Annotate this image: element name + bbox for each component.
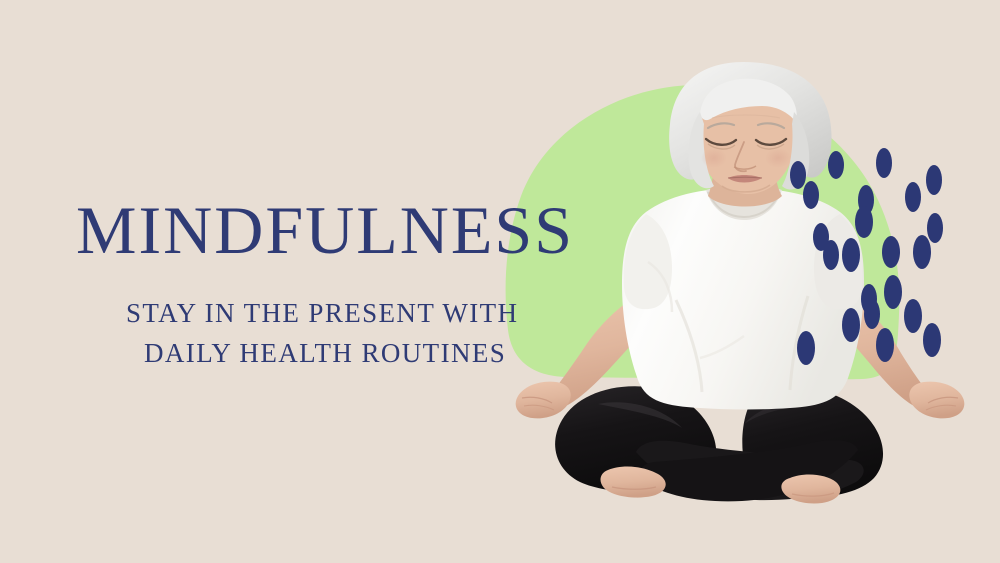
navy-dot [797,331,815,365]
navy-dot [803,181,819,209]
mindfulness-banner: MINDFULNESS STAY IN THE PRESENT WITH DAI… [0,0,1000,563]
navy-dot [913,235,931,269]
navy-dot [905,182,921,212]
navy-dot [855,206,873,238]
navy-dot [927,213,943,243]
navy-dot [842,238,860,272]
navy-dot [904,299,922,333]
navy-dot [882,236,900,268]
navy-dot [864,299,880,329]
navy-dot [923,323,941,357]
navy-dot [828,151,844,179]
navy-dot [876,328,894,362]
navy-dot [823,240,839,270]
navy-dot [876,148,892,178]
navy-dot [790,161,806,189]
navy-dot [884,275,902,309]
navy-dot-scatter [0,0,1000,563]
navy-dot [926,165,942,195]
navy-dot [842,308,860,342]
